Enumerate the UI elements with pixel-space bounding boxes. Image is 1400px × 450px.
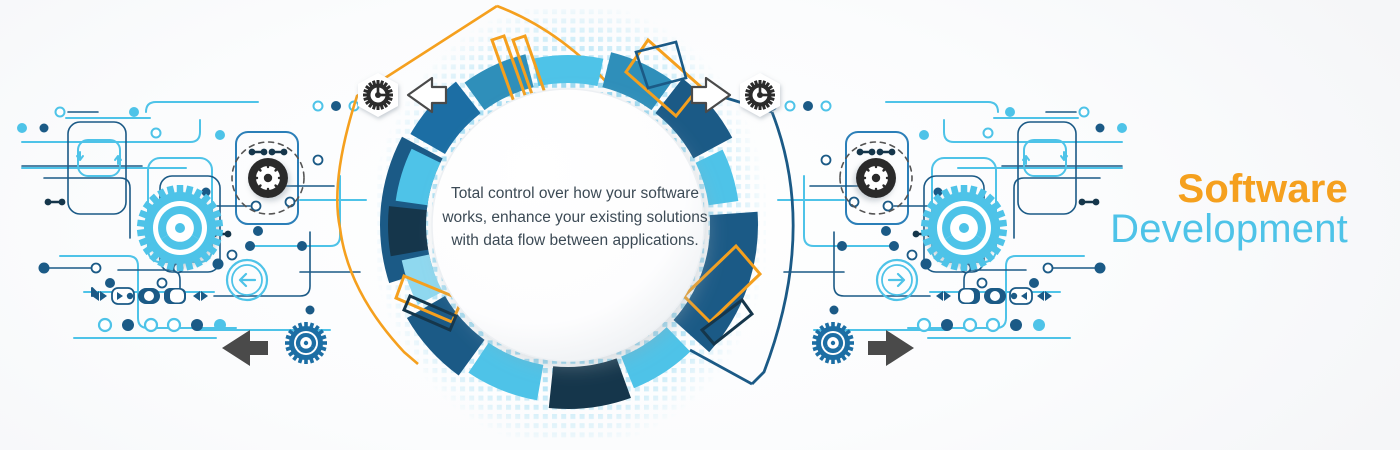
circuit-board-left <box>17 101 377 338</box>
software-development-banner: Total control over how your software wor… <box>0 0 1400 450</box>
slider-row-left <box>92 288 208 304</box>
circle-arrow-left-icon <box>227 260 267 300</box>
refresh-loop-left <box>77 140 121 176</box>
headline: Software Development <box>1110 168 1348 251</box>
headline-line-2: Development <box>1110 208 1348 250</box>
center-disc-text: Total control over how your software wor… <box>430 182 720 253</box>
arrow-left-solid-icon <box>222 330 268 366</box>
circuit-board-right <box>767 101 1127 338</box>
ring-segment <box>388 206 428 256</box>
circle-arrow-right-icon <box>877 260 917 300</box>
slider-row-right <box>936 288 1052 304</box>
arrow-right-solid-icon <box>868 330 914 366</box>
ring-segment <box>533 55 604 86</box>
gear-blue-icon <box>812 322 854 364</box>
gear-blue-icon <box>285 322 327 364</box>
headline-line-1: Software <box>1110 168 1348 210</box>
refresh-loop-right <box>1023 140 1067 176</box>
